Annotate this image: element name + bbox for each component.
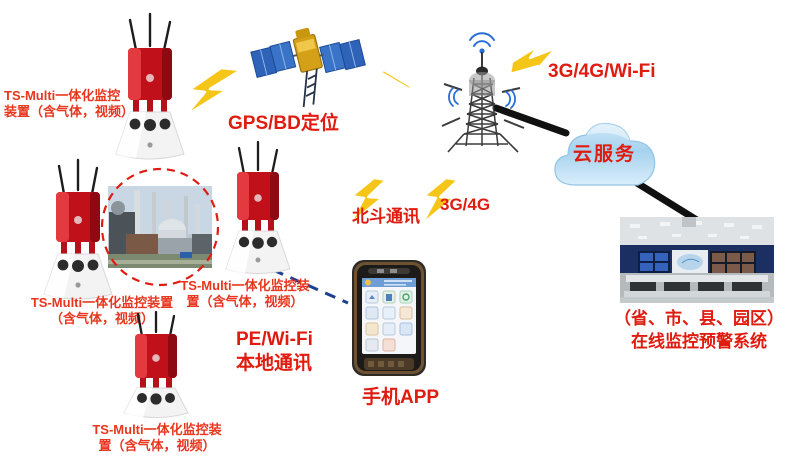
mobile-3g4g-label: 3G/4G [440, 194, 490, 215]
local-comm-label: PE/Wi-Fi 本地通讯 [236, 328, 313, 376]
beidou-label: 北斗通讯 [352, 206, 420, 227]
mobile-3g4g-wifi-label: 3G/4G/Wi-Fi [548, 60, 656, 84]
sensor-device-bottom[interactable] [108, 312, 204, 424]
control-center-label: （省、市、县、园区） 在线监控预警系统 [604, 308, 794, 354]
control-room-photo [620, 217, 774, 303]
sensor-top-left-label: TS-Multi一体化监控 装置（含气体，视频） [4, 88, 144, 121]
rugged-tablet-icon[interactable] [350, 258, 428, 378]
sensor-device-mid-right[interactable] [210, 142, 306, 284]
chemical-plant-photo [96, 168, 224, 290]
cell-tower-icon [432, 18, 536, 154]
diagram-canvas: TS-Multi一体化监控 装置（含气体，视频） TS-Multi一体化监控装置… [0, 0, 797, 464]
cloud-label: 云服务 [573, 143, 636, 167]
satellite-icon [248, 12, 372, 108]
phone-app-label: 手机APP [362, 386, 439, 410]
sensor-bottom-label: TS-Multi一体化监控装 置（含气体，视频） [62, 422, 252, 455]
bolt-satellite-to-tower [378, 68, 440, 120]
gps-label: GPS/BD定位 [228, 112, 339, 136]
